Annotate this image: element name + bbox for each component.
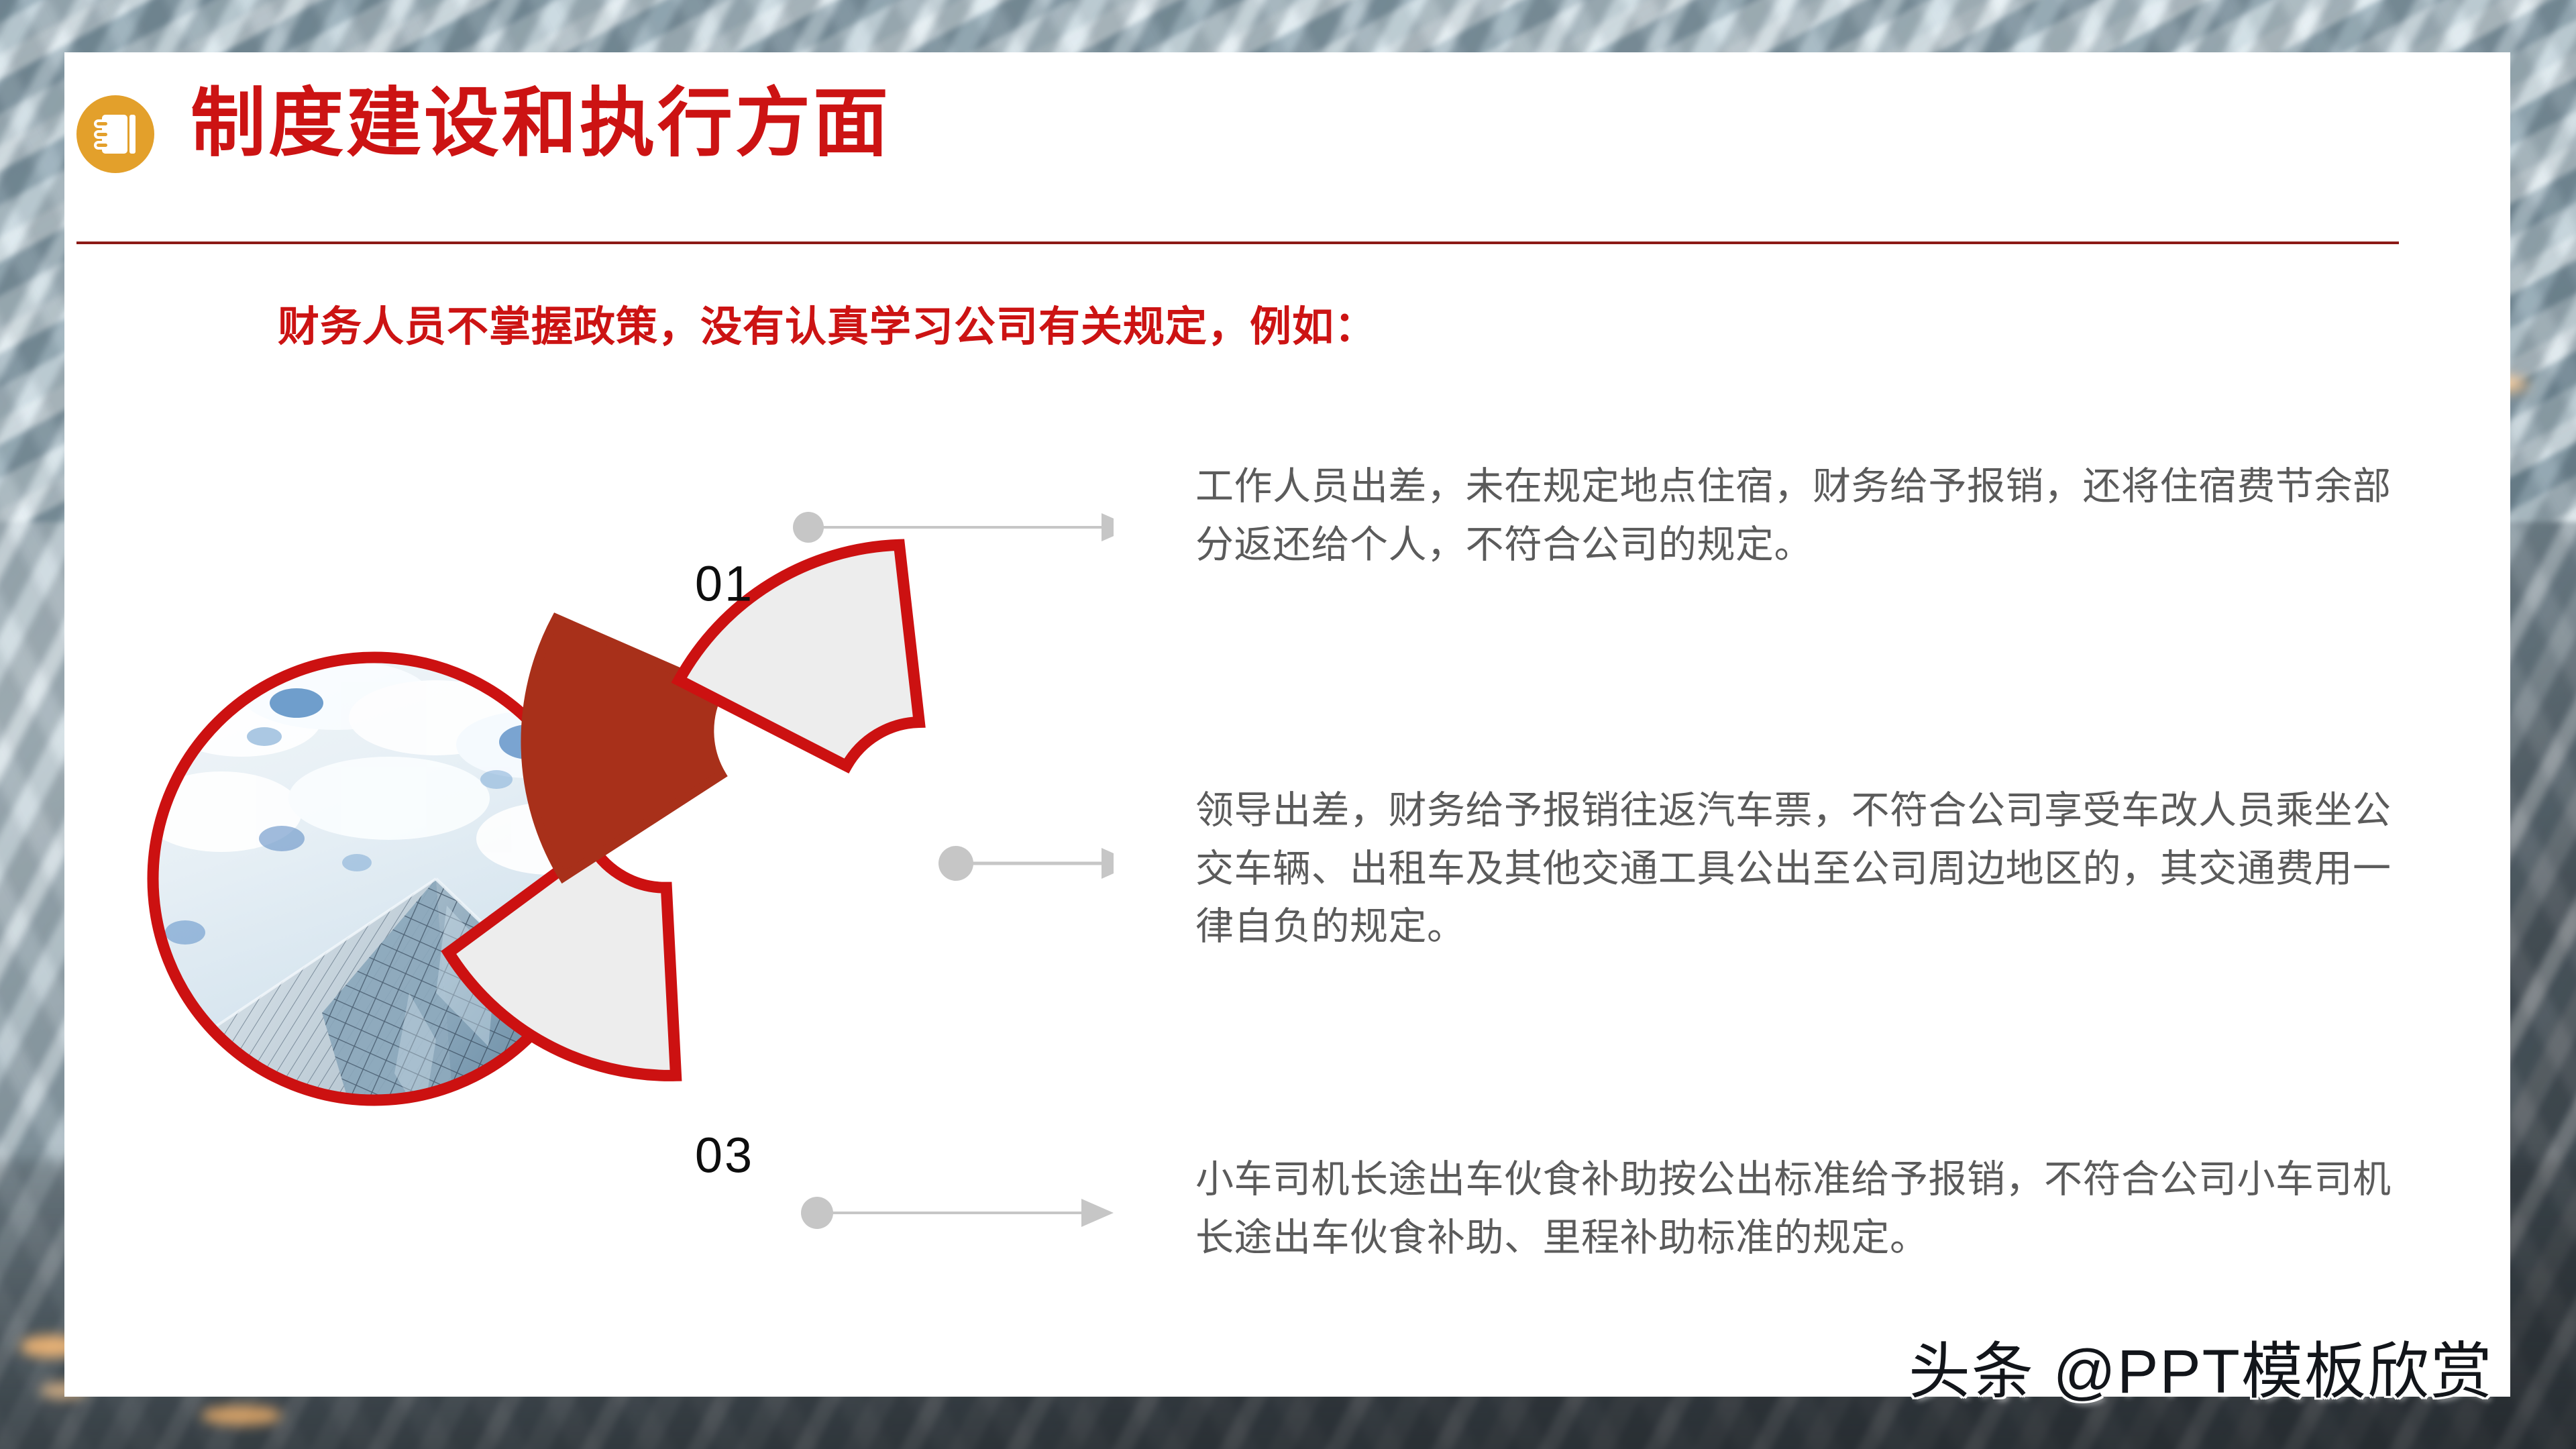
segment-number-02[interactable]: 02 [784, 834, 843, 891]
segment-number-03[interactable]: 03 [695, 1127, 754, 1184]
page-title: 制度建设和执行方面 [191, 79, 891, 168]
header-divider [76, 241, 2399, 244]
content-item-02-text: 领导出差，财务给予报销往返汽车票，不符合公司享受车改人员乘坐公交车辆、出租车及其… [1195, 782, 2410, 956]
connector-01 [793, 512, 1114, 543]
slide-subtitle: 财务人员不掌握政策，没有认真学习公司有关规定，例如： [278, 292, 1377, 353]
connector-02 [938, 846, 1114, 881]
circular-segment-diagram: 01 02 03 [121, 369, 1114, 1322]
content-item-03-text: 小车司机长途出车伙食补助按公出标准给予报销，不符合公司小车司机长途出车伙食补助、… [1195, 1150, 2410, 1267]
content-item-01-text: 工作人员出差，未在规定地点住宿，财务给予报销，还将住宿费节余部分返还给个人，不符… [1195, 458, 2410, 574]
connector-03 [801, 1197, 1114, 1229]
slide-header: 制度建设和执行方面 [76, 75, 2398, 196]
watermark: 头条 @PPT模板欣赏 [1909, 1322, 2493, 1411]
segment-number-01[interactable]: 01 [695, 555, 754, 612]
background-light-blur [201, 1405, 282, 1426]
notebook-icon [76, 95, 154, 173]
